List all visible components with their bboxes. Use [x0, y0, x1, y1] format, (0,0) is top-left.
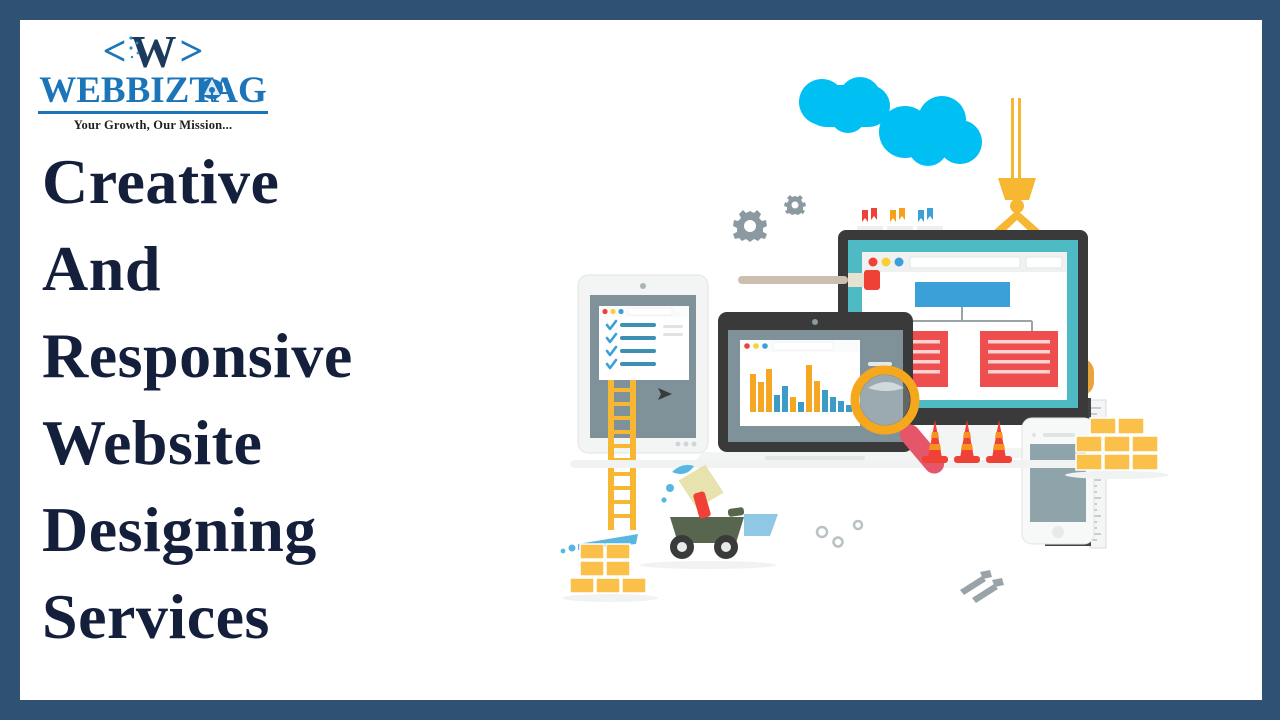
- title-line: Responsive: [42, 312, 462, 399]
- ground-shadow: [570, 460, 1090, 468]
- angle-bracket-right-icon: >: [180, 31, 204, 73]
- screws-icon: [960, 570, 1004, 603]
- angle-bracket-left-icon: <: [103, 31, 127, 73]
- logo-dots-icon: [128, 35, 142, 61]
- page-title: Creative And Responsive Website Designin…: [42, 138, 462, 660]
- traffic-cones-icon: [922, 420, 1012, 463]
- gear-large-icon: [733, 210, 767, 242]
- slide-frame: < W > WEBBIZTAG Your Growth, Our Missi: [0, 0, 1280, 720]
- website-construction-illustration: [560, 20, 1260, 700]
- logo-wordmark: WEBBIZTAG: [38, 72, 268, 109]
- webbiztag-logo[interactable]: < W > WEBBIZTAG Your Growth, Our Missi: [38, 28, 268, 133]
- slide-canvas: < W > WEBBIZTAG Your Growth, Our Missi: [20, 20, 1262, 700]
- bunting-flags-icon: [857, 208, 943, 231]
- logo-letter-w: W: [131, 29, 176, 75]
- tablet-device: [578, 275, 708, 453]
- brick-shadow-left: [562, 594, 658, 602]
- title-line: Creative: [42, 138, 462, 225]
- cloud-small-icon: [879, 96, 982, 166]
- satellite-dish-icon: [198, 76, 226, 104]
- title-line: Designing: [42, 486, 462, 573]
- ladder-icon: [608, 380, 636, 530]
- title-line: Services: [42, 573, 462, 660]
- logo-underline: [38, 111, 268, 114]
- wireframe-card: [980, 331, 1058, 387]
- paintbrush-icon: [738, 270, 880, 290]
- brick-stack-left: [570, 544, 646, 593]
- title-line: And: [42, 225, 462, 312]
- brick-shadow-right: [1065, 471, 1169, 479]
- title-line: Website: [42, 399, 462, 486]
- cloud-large-icon: [799, 77, 890, 133]
- gear-small-icon: [784, 195, 806, 215]
- logo-tagline: Your Growth, Our Mission...: [38, 118, 268, 133]
- logo-mark: < W >: [38, 28, 268, 76]
- bolts-icon: [817, 521, 862, 547]
